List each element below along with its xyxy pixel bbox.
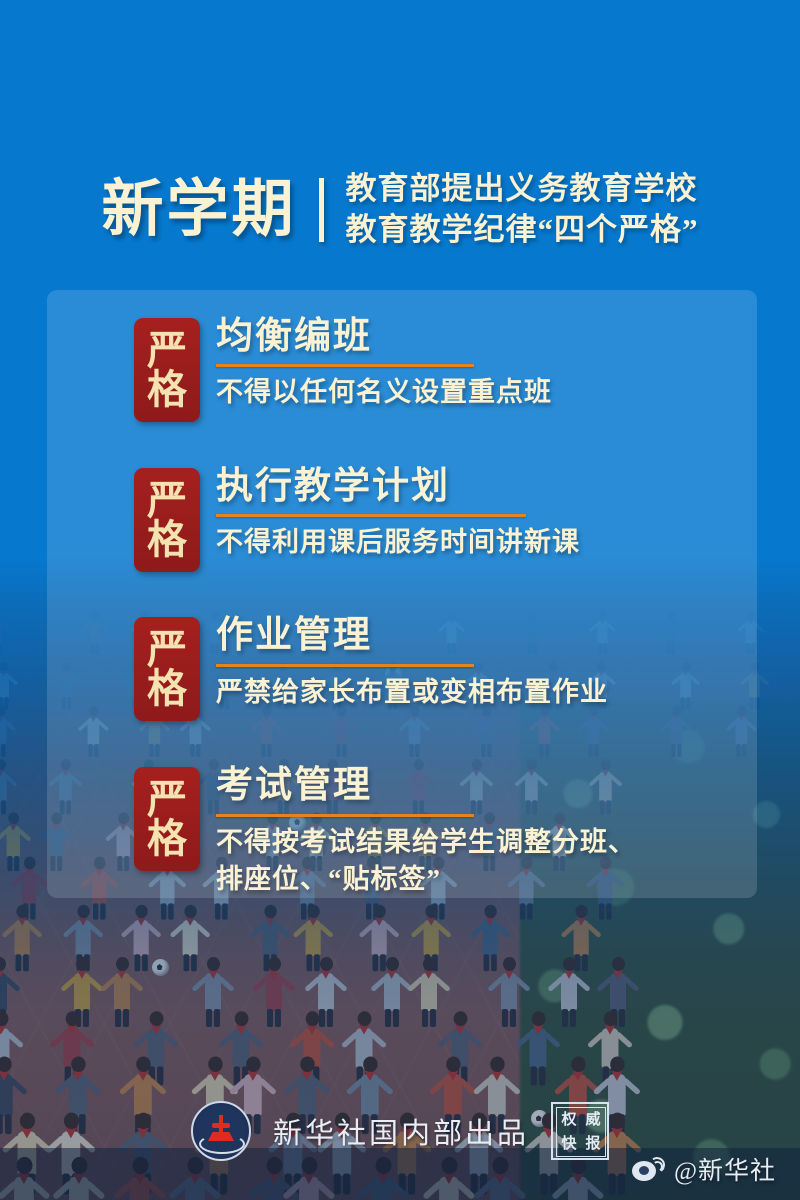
badge-char-top: 严: [147, 630, 187, 669]
list-item-title: 作业管理: [216, 615, 608, 660]
authority-stamp-icon: 权 威 快 报: [551, 1102, 609, 1160]
logo-ring: [199, 1134, 245, 1154]
strict-badge: 严 格: [134, 318, 200, 422]
rules-list: 严 格 均衡编班 不得以任何名义设置重点班 严 格 执行教学计划 不得利用课后服…: [0, 290, 800, 926]
list-item-text: 均衡编班 不得以任何名义设置重点班: [216, 290, 552, 412]
title-underline: [216, 514, 526, 517]
list-item-desc-line-2: 排座位、“贴标签”: [216, 861, 636, 898]
subtitle-line-1: 教育部提出义务教育学校: [346, 169, 699, 210]
title-divider: [319, 178, 324, 242]
title-underline: [216, 664, 474, 667]
list-item-text: 执行教学计划 不得利用课后服务时间讲新课: [216, 440, 580, 562]
list-item-title: 考试管理: [216, 765, 636, 810]
badge-char-bottom: 格: [147, 669, 187, 708]
list-item-desc-line-1: 严禁给家长布置或变相布置作业: [216, 674, 608, 711]
list-item: 严 格 均衡编班 不得以任何名义设置重点班: [0, 290, 800, 412]
badge-char-top: 严: [147, 331, 187, 370]
stamp-char-1: 权: [561, 1113, 576, 1128]
badge-char-top: 严: [147, 481, 187, 520]
weibo-attribution: @新华社: [632, 1151, 776, 1187]
stamp-char-3: 快: [561, 1137, 576, 1152]
weibo-icon: [632, 1157, 665, 1182]
list-item-desc-line-1: 不得按考试结果给学生调整分班、: [216, 824, 636, 861]
strict-badge: 严 格: [134, 617, 200, 721]
stamp-char-4: 报: [585, 1137, 600, 1152]
list-item-desc-line-1: 不得利用课后服务时间讲新课: [216, 524, 580, 561]
list-item-desc-line-1: 不得以任何名义设置重点班: [216, 374, 552, 411]
list-item-title: 执行教学计划: [216, 466, 580, 511]
list-item: 严 格 作业管理 严禁给家长布置或变相布置作业: [0, 589, 800, 711]
page-title: 新学期: [101, 179, 302, 241]
header-subtitle: 教育部提出义务教育学校 教育教学纪律“四个严格”: [346, 169, 699, 251]
header: 新学期 教育部提出义务教育学校 教育教学纪律“四个严格”: [0, 150, 800, 270]
strict-badge: 严 格: [134, 468, 200, 572]
badge-char-bottom: 格: [147, 819, 187, 858]
badge-char-top: 严: [147, 780, 187, 819]
badge-char-bottom: 格: [147, 520, 187, 559]
footer-credit: 新华社国内部出品: [273, 1110, 529, 1152]
title-underline: [216, 814, 474, 817]
weibo-handle-text: @新华社: [674, 1151, 776, 1187]
title-underline: [216, 364, 474, 367]
list-item-text: 考试管理 不得按考试结果给学生调整分班、 排座位、“贴标签”: [216, 739, 636, 898]
poster: 新学期 教育部提出义务教育学校 教育教学纪律“四个严格” 严 格 均衡编班 不得…: [0, 0, 800, 1200]
strict-badge: 严 格: [134, 767, 200, 871]
list-item: 严 格 考试管理 不得按考试结果给学生调整分班、 排座位、“贴标签”: [0, 739, 800, 898]
xinhua-logo-icon: [191, 1101, 251, 1161]
list-item-text: 作业管理 严禁给家长布置或变相布置作业: [216, 589, 608, 711]
stamp-char-2: 威: [585, 1113, 600, 1128]
list-item: 严 格 执行教学计划 不得利用课后服务时间讲新课: [0, 440, 800, 562]
list-item-title: 均衡编班: [216, 316, 552, 361]
subtitle-line-2: 教育教学纪律“四个严格”: [346, 210, 699, 251]
badge-char-bottom: 格: [147, 370, 187, 409]
